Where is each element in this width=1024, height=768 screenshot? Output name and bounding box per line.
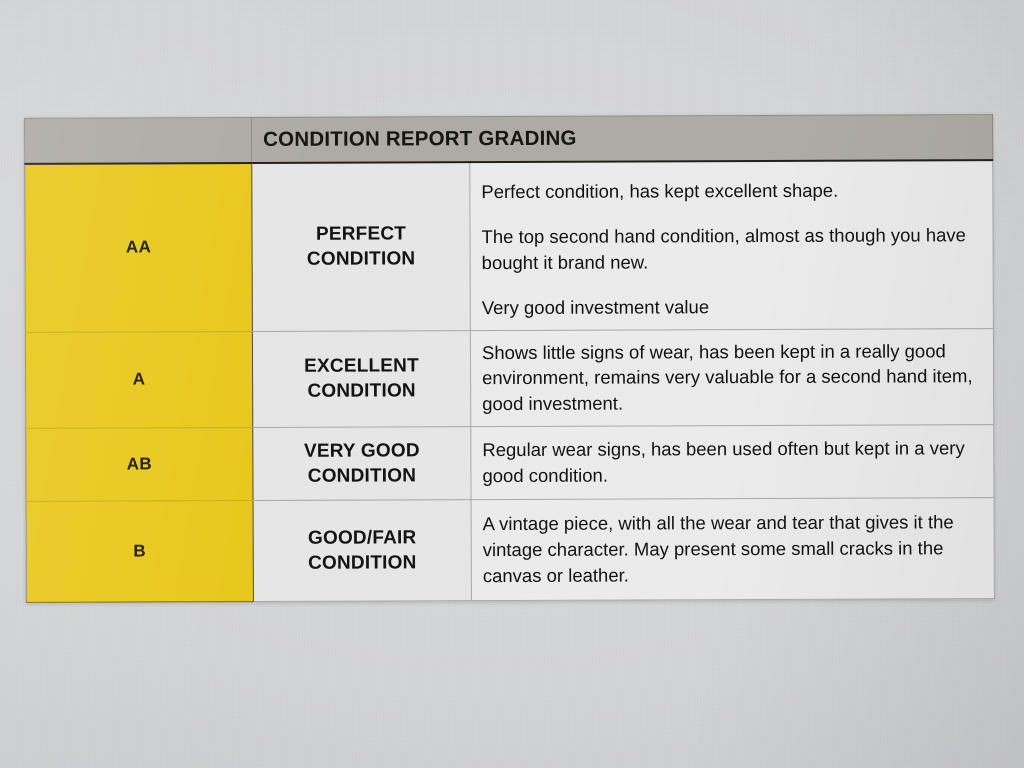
condition-label-line1: GOOD/FAIR xyxy=(308,528,417,549)
condition-report-grading-table-container: CONDITION REPORT GRADING AA PERFECT COND… xyxy=(24,114,994,603)
condition-label-aa: PERFECT CONDITION xyxy=(252,162,471,331)
condition-label-b: GOOD/FAIR CONDITION xyxy=(253,500,471,602)
grade-badge-ab: AB xyxy=(26,428,253,502)
grade-badge-b: B xyxy=(26,501,253,603)
description-ab: Regular wear signs, has been used often … xyxy=(471,425,994,500)
condition-label-line1: PERFECT xyxy=(316,224,406,245)
condition-label-ab: VERY GOOD CONDITION xyxy=(253,427,471,501)
condition-report-grading-table: CONDITION REPORT GRADING AA PERFECT COND… xyxy=(24,114,995,603)
table-title: CONDITION REPORT GRADING xyxy=(252,115,993,163)
description-b: A vintage piece, with all the wear and t… xyxy=(471,498,994,601)
condition-label-line2: CONDITION xyxy=(308,553,416,574)
table-row: A EXCELLENT CONDITION Shows little signs… xyxy=(25,328,993,428)
table-row: AA PERFECT CONDITION Perfect condition, … xyxy=(25,160,994,332)
condition-label-line2: CONDITION xyxy=(308,466,416,487)
table-header-row: CONDITION REPORT GRADING xyxy=(25,115,993,164)
description-a: Shows little signs of wear, has been kep… xyxy=(470,328,993,427)
description-paragraph: Very good investment value xyxy=(482,293,980,321)
header-blank-cell xyxy=(25,117,252,163)
condition-label-a: EXCELLENT CONDITION xyxy=(252,330,470,428)
condition-label-line2: CONDITION xyxy=(307,249,415,270)
condition-label-line1: EXCELLENT xyxy=(304,356,419,377)
condition-label-line1: VERY GOOD xyxy=(304,440,420,461)
table-row: B GOOD/FAIR CONDITION A vintage piece, w… xyxy=(26,498,994,603)
description-paragraph: The top second hand condition, almost as… xyxy=(481,222,979,276)
description-paragraph: Perfect condition, has kept excellent sh… xyxy=(481,177,979,205)
description-aa: Perfect condition, has kept excellent sh… xyxy=(470,160,994,330)
grade-badge-aa: AA xyxy=(25,163,253,332)
description-paragraph: Shows little signs of wear, has been kep… xyxy=(482,338,980,418)
grade-badge-a: A xyxy=(25,331,252,429)
description-paragraph: A vintage piece, with all the wear and t… xyxy=(483,510,981,590)
table-row: AB VERY GOOD CONDITION Regular wear sign… xyxy=(26,425,994,502)
description-paragraph: Regular wear signs, has been used often … xyxy=(482,436,980,490)
condition-label-line2: CONDITION xyxy=(307,381,415,402)
